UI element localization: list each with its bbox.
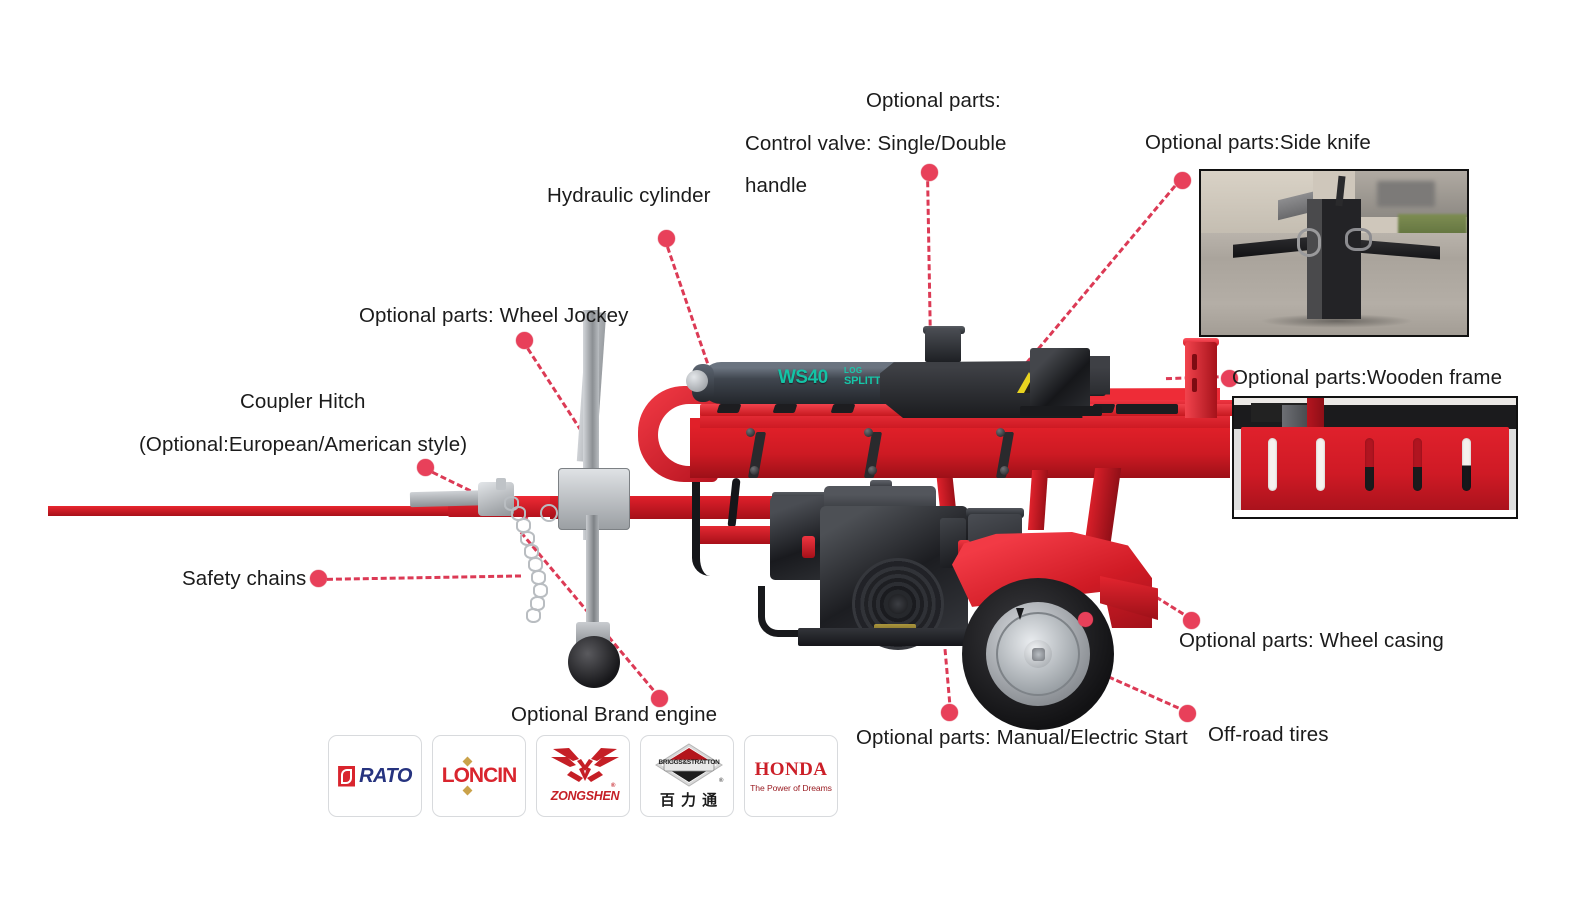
- beam-bolt: [750, 466, 759, 475]
- engine-mount-base: [798, 628, 988, 646]
- control-valve-handle: [925, 328, 961, 362]
- label-optional-brand-engine: Optional Brand engine: [511, 704, 717, 726]
- briggs-wordmark: BRIGGS&STRATTON: [657, 759, 721, 766]
- jockey-wheel-lower-post: [586, 515, 599, 635]
- side-knife-photo: [1199, 169, 1469, 337]
- label-coupler-hitch-style: (Optional:European/American style): [139, 434, 467, 456]
- wooden-frame-slot: [1462, 438, 1471, 490]
- brand-card-loncin[interactable]: LONCIN: [432, 735, 526, 817]
- label-side-knife: Optional parts:Side knife: [1145, 132, 1371, 154]
- label-control-valve-line2: handle: [745, 175, 807, 197]
- beam-notch: [831, 404, 856, 413]
- diagram-canvas: WS40 LOG SPLITTER: [0, 0, 1587, 924]
- side-knife-column: [1307, 199, 1360, 319]
- photo-blurred-object: [1377, 181, 1436, 207]
- tow-rail: [48, 506, 468, 516]
- end-plate-slot: [1192, 354, 1197, 370]
- engine-choke-lever: [802, 536, 815, 558]
- rato-mark-icon: [338, 766, 355, 787]
- wooden-frame-slot: [1413, 438, 1422, 490]
- end-plate-slot: [1192, 378, 1197, 392]
- label-coupler-hitch: Coupler Hitch: [240, 391, 366, 413]
- briggs-chinese-name: 百 力 通: [647, 789, 731, 810]
- brand-card-honda[interactable]: HONDA The Power of Dreams: [744, 735, 838, 817]
- honda-wordmark: HONDA: [755, 759, 828, 781]
- zongshen-wings-icon: [549, 745, 621, 785]
- rato-wordmark: RATO: [359, 765, 412, 788]
- callout-dot-wheel-jockey[interactable]: [516, 332, 533, 349]
- wooden-frame-photo: [1232, 396, 1518, 519]
- engine-brand-logo-strip: RATO LONCIN: [328, 735, 838, 815]
- wooden-frame-slot: [1365, 438, 1374, 490]
- label-wheel-casing: Optional parts: Wheel casing: [1179, 630, 1444, 652]
- label-wheel-jockey: Optional parts: Wheel Jockey: [359, 305, 628, 327]
- beam-bolt: [746, 428, 755, 437]
- callout-dot-wheel-casing[interactable]: [1183, 612, 1200, 629]
- label-control-valve: Control valve: Single/Double: [745, 133, 1006, 155]
- briggs-registered-icon: ®: [719, 778, 723, 784]
- brand-card-briggs-stratton[interactable]: BRIGGS&STRATTON ® 百 力 通: [640, 735, 734, 817]
- zongshen-registered-icon: ®: [611, 783, 615, 789]
- label-off-road-tires: Off-road tires: [1208, 724, 1329, 746]
- label-manual-electric-start: Optional parts: Manual/Electric Start: [856, 727, 1188, 749]
- beam-slide-plate: [1116, 404, 1178, 414]
- log-splitter-illustration: WS40 LOG SPLITTER: [400, 300, 1300, 720]
- honda-tagline: The Power of Dreams: [750, 783, 832, 793]
- beam-bolt: [1000, 466, 1009, 475]
- loncin-wordmark: LONCIN: [442, 764, 517, 788]
- cylinder-decal-line1: LOG: [844, 366, 863, 375]
- beam-bolt: [996, 428, 1005, 437]
- safety-chain-link: [526, 608, 541, 623]
- coupler-hitch-bolt: [496, 478, 506, 490]
- callout-dot-control-valve[interactable]: [921, 164, 938, 181]
- label-hydraulic-cylinder: Hydraulic cylinder: [547, 185, 711, 207]
- callout-dot-safety-chains[interactable]: [310, 570, 327, 587]
- jockey-wheel-caster: [568, 636, 620, 688]
- safety-chain-hook: [540, 504, 558, 522]
- end-plate: [1185, 342, 1217, 418]
- brand-card-rato[interactable]: RATO: [328, 735, 422, 817]
- cylinder-decal-model: WS40: [778, 367, 828, 389]
- wheel-hub-nut: [1032, 648, 1045, 661]
- recoil-starter-center: [888, 594, 908, 614]
- wooden-frame-slot: [1316, 438, 1325, 490]
- support-leg: [1028, 470, 1048, 530]
- beam-bolt: [864, 428, 873, 437]
- beam-notch: [773, 404, 798, 413]
- wooden-frame-slot: [1268, 438, 1277, 490]
- beam-notch: [717, 404, 742, 413]
- label-wooden-frame: Optional parts:Wooden frame: [1232, 367, 1502, 389]
- brand-card-zongshen[interactable]: ZONGSHEN ®: [536, 735, 630, 817]
- callout-dot-wheel-hub[interactable]: [1078, 612, 1093, 627]
- side-knife-clip-left: [1297, 228, 1322, 257]
- photo-lower-band: [1234, 510, 1516, 517]
- rear-stand: [1085, 468, 1121, 542]
- callout-dot-manual-electric-start[interactable]: [941, 704, 958, 721]
- beam-bolt: [868, 466, 877, 475]
- side-knife-clip-right: [1345, 228, 1372, 250]
- label-safety-chains: Safety chains: [182, 568, 306, 590]
- valve-block-base: [1020, 406, 1102, 416]
- callout-dot-coupler-hitch[interactable]: [417, 459, 434, 476]
- valve-block: [1030, 348, 1090, 410]
- label-optional-parts-heading: Optional parts:: [866, 90, 1001, 112]
- hydraulic-cylinder-pivot-bolt: [686, 370, 708, 392]
- photo-red-post: [1307, 398, 1324, 429]
- callout-dot-hydraulic-cylinder[interactable]: [658, 230, 675, 247]
- callout-dot-off-road-tires[interactable]: [1179, 705, 1196, 722]
- zongshen-wordmark: ZONGSHEN: [547, 789, 623, 803]
- engine-hose: [758, 586, 801, 637]
- callout-dot-side-knife[interactable]: [1174, 172, 1191, 189]
